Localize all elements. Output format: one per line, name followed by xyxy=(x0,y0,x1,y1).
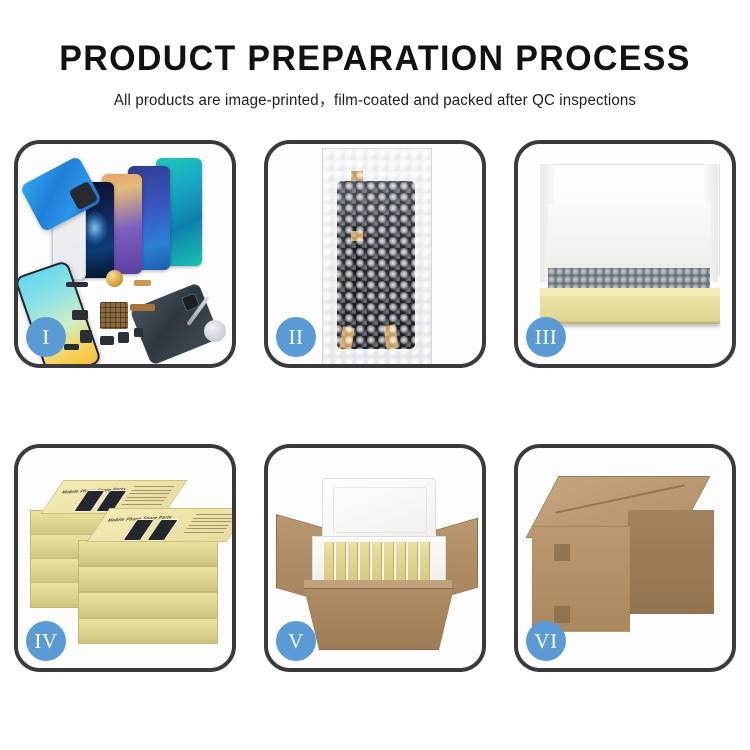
gold-component-icon xyxy=(106,270,123,287)
page-subtitle: All products are image-printed，film-coat… xyxy=(11,88,739,110)
process-panel-4[interactable]: Mobile Phone Spare Parts Mobile xyxy=(14,444,236,672)
part-flex-cable xyxy=(130,304,155,311)
carton-right-face xyxy=(628,510,714,614)
panel-badge-4: IV xyxy=(26,621,66,661)
box-front-4 xyxy=(78,618,218,644)
product-preparation-page: PRODUCT PREPARATION PROCESS All products… xyxy=(0,0,750,750)
part-module-b xyxy=(80,330,92,343)
chip-grid-icon xyxy=(100,302,128,329)
foam-sheet xyxy=(548,204,710,272)
carton-tape-lower xyxy=(554,606,570,623)
panel-badge-6: VI xyxy=(526,621,566,661)
page-header: PRODUCT PREPARATION PROCESS All products… xyxy=(0,38,750,110)
carton-front-face xyxy=(304,588,454,650)
box-front-top-face: Mobile Phone Spare Parts xyxy=(87,508,232,542)
box-front-3 xyxy=(78,592,218,618)
foam-box-lid xyxy=(322,478,436,542)
yellow-box-front xyxy=(540,296,720,324)
process-panel-3[interactable]: III xyxy=(514,140,736,368)
process-panel-2[interactable]: II xyxy=(264,140,486,368)
panel-badge-2: II xyxy=(276,317,316,357)
part-speaker xyxy=(66,282,88,287)
part-module-d xyxy=(118,332,129,343)
carton-tape-upper xyxy=(554,544,570,561)
panel-badge-1: I xyxy=(26,317,66,357)
box-front-1 xyxy=(78,540,218,566)
part-module-c xyxy=(100,336,114,345)
box-spec-lines-front xyxy=(182,514,232,536)
page-title: PRODUCT PREPARATION PROCESS xyxy=(11,38,739,80)
box-shadow xyxy=(540,322,720,327)
part-connector-gold xyxy=(134,280,151,286)
bubble-shade-layer xyxy=(323,149,431,364)
process-panel-1[interactable]: I xyxy=(14,140,236,368)
bubble-wrap-bag xyxy=(322,148,432,364)
process-panel-6[interactable]: VI xyxy=(514,444,736,672)
foam-box-contents xyxy=(324,542,432,584)
process-panel-5[interactable]: V xyxy=(264,444,486,672)
tool-head-icon xyxy=(204,320,226,342)
part-module-e xyxy=(64,344,79,350)
panel-badge-5: V xyxy=(276,621,316,661)
box-spec-lines-back xyxy=(120,486,175,508)
part-module-f xyxy=(134,328,143,337)
process-panel-grid: I II xyxy=(14,140,736,690)
box-front-2 xyxy=(78,566,218,592)
panel-badge-3: III xyxy=(526,317,566,357)
part-module-a xyxy=(72,310,88,320)
carton-front-panel xyxy=(532,526,630,632)
